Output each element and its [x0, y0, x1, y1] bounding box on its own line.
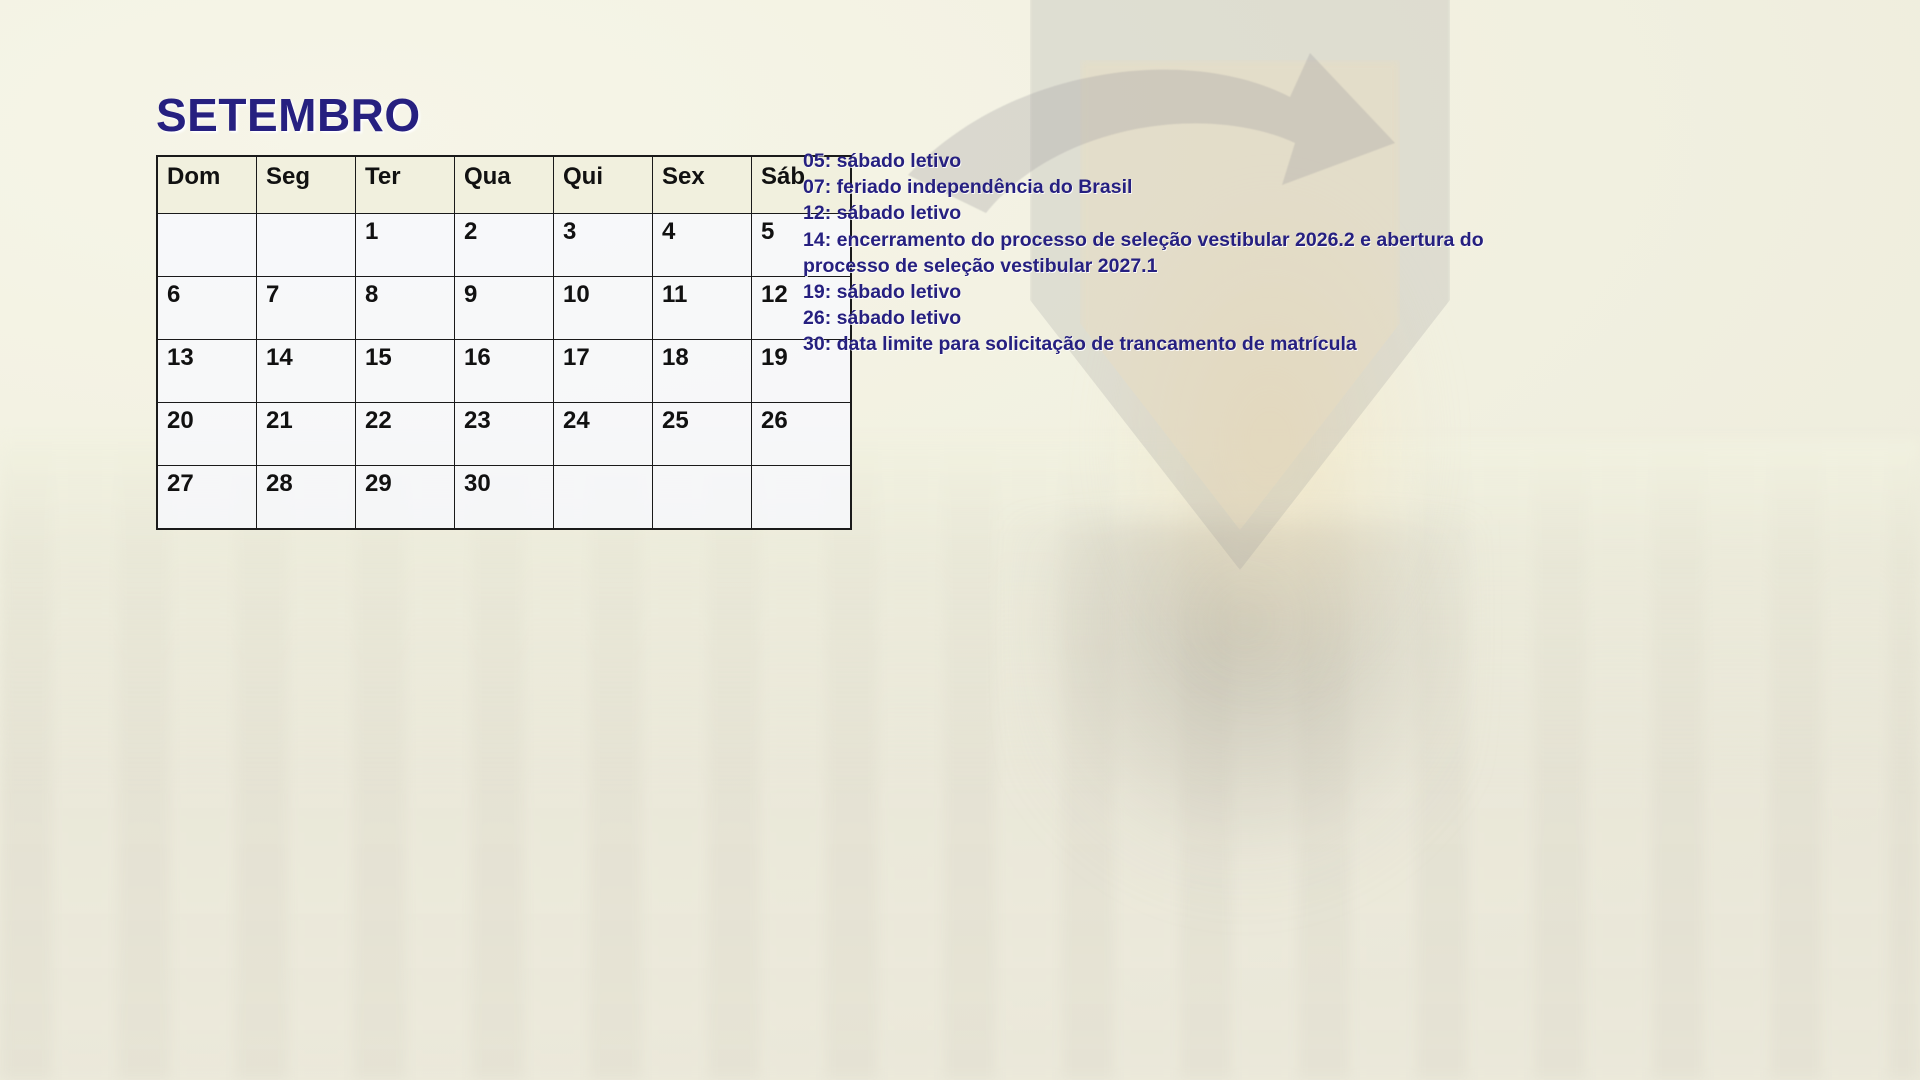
- calendar-day-cell[interactable]: [752, 466, 852, 530]
- calendar-day-cell[interactable]: 4: [653, 214, 752, 277]
- calendar-week-row: 1 2 3 4 5: [157, 214, 851, 277]
- calendar-header-row: Dom Seg Ter Qua Qui Sex Sáb: [157, 156, 851, 214]
- legend-item: 12: sábado letivo: [803, 200, 1563, 226]
- calendar-day-cell[interactable]: 22: [356, 403, 455, 466]
- calendar-container: Dom Seg Ter Qua Qui Sex Sáb 1 2 3 4 5: [156, 155, 852, 530]
- calendar-day-cell[interactable]: 27: [157, 466, 257, 530]
- calendar-day-cell[interactable]: 9: [455, 277, 554, 340]
- page-title: SETEMBRO: [156, 88, 421, 142]
- weekday-header-qua: Qua: [455, 156, 554, 214]
- calendar-week-row: 13 14 15 16 17 18 19: [157, 340, 851, 403]
- calendar-day-cell-holiday[interactable]: 7: [257, 277, 356, 340]
- calendar-day-cell[interactable]: [554, 466, 653, 530]
- calendar-day-cell[interactable]: 30: [455, 466, 554, 530]
- calendar-week-row: 6 7 8 9 10 11 12: [157, 277, 851, 340]
- calendar-day-cell[interactable]: 20: [157, 403, 257, 466]
- calendar-day-cell[interactable]: 3: [554, 214, 653, 277]
- calendar-day-cell[interactable]: 14: [257, 340, 356, 403]
- calendar-day-cell[interactable]: [257, 214, 356, 277]
- legend-item: 05: sábado letivo: [803, 148, 1563, 174]
- weekday-header-dom: Dom: [157, 156, 257, 214]
- calendar-day-cell[interactable]: 2: [455, 214, 554, 277]
- calendar-day-cell[interactable]: 21: [257, 403, 356, 466]
- calendar-day-cell[interactable]: 17: [554, 340, 653, 403]
- calendar-day-cell[interactable]: [653, 466, 752, 530]
- calendar-day-cell[interactable]: 25: [653, 403, 752, 466]
- calendar-week-row: 27 28 29 30: [157, 466, 851, 530]
- calendar-day-cell[interactable]: 26: [752, 403, 852, 466]
- calendar-day-cell[interactable]: 1: [356, 214, 455, 277]
- calendar-day-cell[interactable]: 10: [554, 277, 653, 340]
- legend-item: 30: data limite para solicitação de tran…: [803, 331, 1563, 357]
- legend-item: 19: sábado letivo: [803, 279, 1563, 305]
- calendar-day-cell[interactable]: 18: [653, 340, 752, 403]
- calendar-table: Dom Seg Ter Qua Qui Sex Sáb 1 2 3 4 5: [156, 155, 852, 530]
- legend-item: 26: sábado letivo: [803, 305, 1563, 331]
- calendar-day-cell[interactable]: 8: [356, 277, 455, 340]
- calendar-day-cell[interactable]: 15: [356, 340, 455, 403]
- calendar-day-cell[interactable]: 13: [157, 340, 257, 403]
- calendar-week-row: 20 21 22 23 24 25 26: [157, 403, 851, 466]
- legend-item: 14: encerramento do processo de seleção …: [803, 227, 1563, 279]
- legend-item: 07: feriado independência do Brasil: [803, 174, 1563, 200]
- calendar-day-cell[interactable]: 11: [653, 277, 752, 340]
- weekday-header-ter: Ter: [356, 156, 455, 214]
- calendar-day-cell[interactable]: 23: [455, 403, 554, 466]
- calendar-day-cell[interactable]: 6: [157, 277, 257, 340]
- weekday-header-sex: Sex: [653, 156, 752, 214]
- calendar-day-cell[interactable]: 28: [257, 466, 356, 530]
- calendar-day-cell[interactable]: 24: [554, 403, 653, 466]
- calendar-day-cell[interactable]: 16: [455, 340, 554, 403]
- weekday-header-seg: Seg: [257, 156, 356, 214]
- calendar-day-cell[interactable]: [157, 214, 257, 277]
- calendar-day-cell[interactable]: 29: [356, 466, 455, 530]
- legend-notes: 05: sábado letivo 07: feriado independên…: [803, 148, 1563, 358]
- weekday-header-qui: Qui: [554, 156, 653, 214]
